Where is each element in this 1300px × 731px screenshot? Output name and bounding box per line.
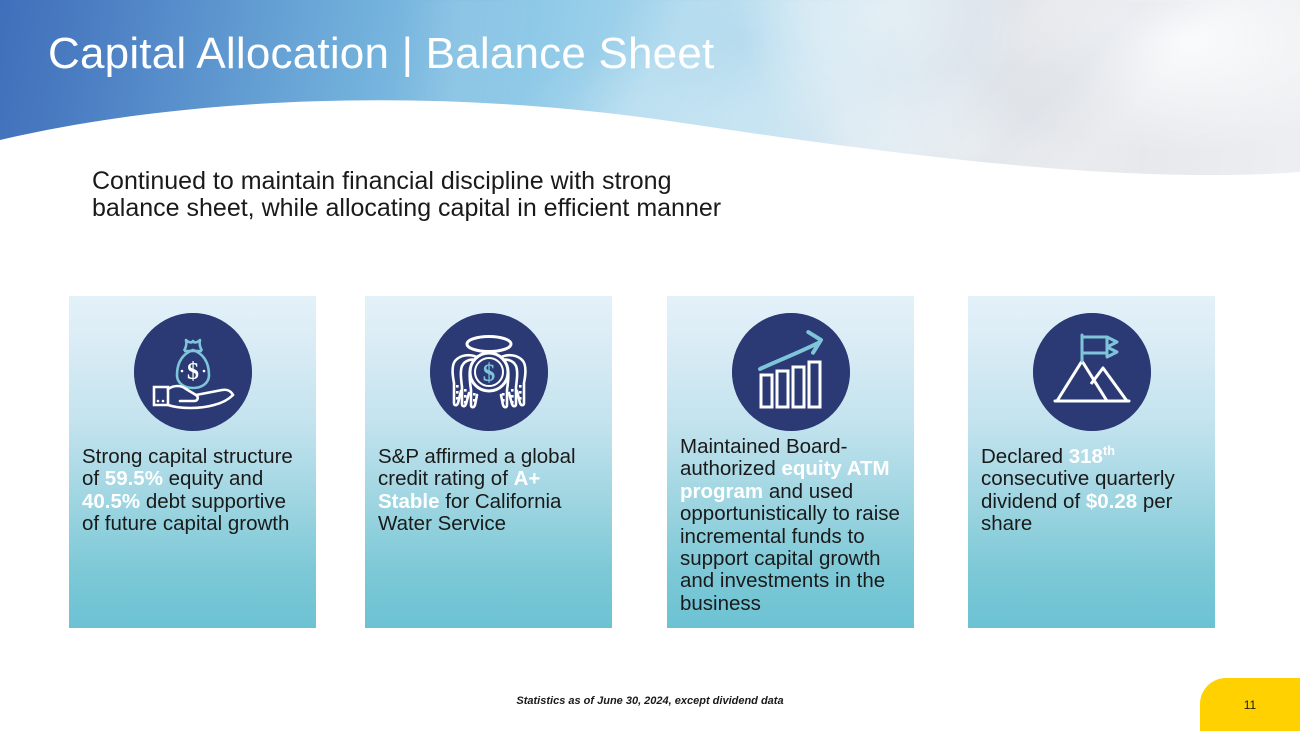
slide: Capital Allocation | Balance Sheet Conti…: [0, 0, 1300, 731]
money-bag-in-hand-icon: $: [134, 313, 252, 431]
slide-subtitle: Continued to maintain financial discipli…: [92, 168, 852, 222]
card-text: Strong capital structure of 59.5% equity…: [82, 446, 306, 536]
card-capital-structure[interactable]: $ Strong capital structure of 59.5% equi…: [69, 296, 316, 628]
card-text: Maintained Board-authorized equity ATM p…: [680, 436, 904, 615]
card-text: S&P affirmed a global credit rating of A…: [378, 446, 602, 536]
card-row: $ Strong capital structure of 59.5% equi…: [69, 296, 1219, 628]
page-number-badge: 11: [1200, 678, 1300, 731]
page-number: 11: [1244, 698, 1256, 712]
growth-bar-chart-arrow-icon: [732, 313, 850, 431]
mountain-flag-summit-icon: [1033, 313, 1151, 431]
card-equity-atm[interactable]: Maintained Board-authorized equity ATM p…: [667, 296, 914, 628]
highlight-dividend-amount: $0.28: [1086, 490, 1137, 513]
page-title: Capital Allocation | Balance Sheet: [48, 24, 714, 84]
angel-investor-coin-wings-icon: $: [430, 313, 548, 431]
text-part: S&P affirmed a global credit rating of: [378, 445, 576, 490]
card-credit-rating[interactable]: $ S&P affirmed a global credit rating of…: [365, 296, 612, 628]
svg-text:$: $: [482, 360, 495, 387]
dividend-ordinal-suffix: th: [1103, 443, 1115, 458]
card-text: Declared 318th consecutive quarterly div…: [981, 446, 1205, 536]
highlight-dividend-count: 318th: [1069, 445, 1115, 468]
text-part: equity and: [163, 467, 263, 490]
highlight-equity-pct: 59.5%: [105, 467, 163, 490]
svg-text:$: $: [187, 359, 199, 385]
text-part: Declared: [981, 445, 1069, 468]
subtitle-line-2: balance sheet, while allocating capital …: [92, 195, 852, 222]
footnote: Statistics as of June 30, 2024, except d…: [0, 695, 1300, 707]
dividend-ordinal-number: 318: [1069, 445, 1103, 468]
subtitle-line-1: Continued to maintain financial discipli…: [92, 168, 852, 195]
highlight-debt-pct: 40.5%: [82, 490, 140, 513]
card-dividend[interactable]: Declared 318th consecutive quarterly div…: [968, 296, 1215, 628]
